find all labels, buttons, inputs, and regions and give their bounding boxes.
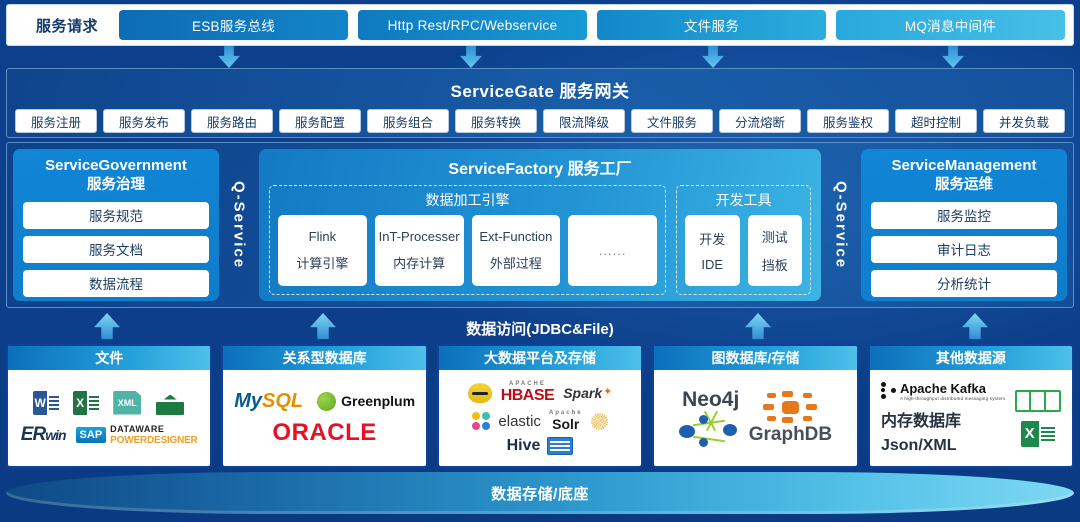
source-card-file-header: 文件 xyxy=(8,346,210,370)
file-import-icon xyxy=(155,391,185,415)
tools-cell-test[interactable]: 测试 挡板 xyxy=(748,215,803,286)
green-table-icon xyxy=(1015,390,1061,412)
mgmt-row-stats[interactable]: 分析统计 xyxy=(871,270,1057,297)
gate-item-concurrency[interactable]: 并发负载 xyxy=(983,109,1065,133)
source-card-other[interactable]: 其他数据源 Apache Kafka A high-throug xyxy=(868,344,1074,468)
solr-logo: Solr xyxy=(552,416,579,432)
excel-icon: X xyxy=(73,391,99,415)
service-government-rows: 服务规范 服务文档 数据流程 xyxy=(23,202,209,297)
service-government-card: ServiceGovernment 服务治理 服务规范 服务文档 数据流程 xyxy=(13,149,219,301)
greenplum-logo: Greenplum xyxy=(341,393,415,409)
hive-logo: Hive xyxy=(507,437,541,455)
engine-cell-more[interactable]: ...... xyxy=(568,215,657,286)
tools-cell-test-top: 测试 xyxy=(762,227,788,246)
gate-item-register[interactable]: 服务注册 xyxy=(15,109,97,133)
source-card-other-header: 其他数据源 xyxy=(870,346,1072,370)
hbase-logo: HBASE xyxy=(501,387,555,405)
kafka-icon xyxy=(881,382,897,400)
xml-icon: XML xyxy=(113,391,141,415)
engine-cell-more-top: ...... xyxy=(599,243,627,258)
service-gate-panel: ServiceGate 服务网关 服务注册 服务发布 服务路由 服务配置 服务组… xyxy=(6,68,1074,138)
engine-cell-int-processer[interactable]: InT-Processer 内存计算 xyxy=(375,215,464,286)
elastic-icon xyxy=(472,412,490,430)
source-card-other-body: Apache Kafka A high-throughput distribut… xyxy=(870,370,1072,466)
q-service-left: Q-Service xyxy=(219,149,259,301)
tools-cell-dev-top: 开发 xyxy=(699,229,725,248)
engine-cell-flink-top: Flink xyxy=(309,229,336,244)
service-management-title-cn: 服务运维 xyxy=(871,176,1057,194)
gov-row-dataflow[interactable]: 数据流程 xyxy=(23,270,209,297)
data-process-engine-title: 数据加工引擎 xyxy=(278,190,657,210)
gate-item-transform[interactable]: 服务转换 xyxy=(455,109,537,133)
gate-item-compose[interactable]: 服务组合 xyxy=(367,109,449,133)
memory-db-label: 内存数据库 xyxy=(881,407,961,431)
source-card-file-body: W X XML ERwin SAP xyxy=(8,370,210,466)
dev-tools-title: 开发工具 xyxy=(685,190,802,210)
engine-cell-ext-function[interactable]: Ext-Function 外部过程 xyxy=(472,215,561,286)
mysql-logo: MySQL xyxy=(234,390,303,413)
engine-cell-flink-bottom: 计算引擎 xyxy=(296,253,348,272)
neo4j-graph-icon xyxy=(679,414,743,448)
data-source-cards: 文件 W X XML xyxy=(6,344,1074,468)
engine-cell-int-top: InT-Processer xyxy=(379,229,460,244)
service-management-title-en: ServiceManagement xyxy=(871,157,1057,176)
graphdb-logo: GraphDB xyxy=(749,424,832,446)
erwin-logo: ERwin xyxy=(21,424,66,446)
gate-item-auth[interactable]: 服务鉴权 xyxy=(807,109,889,133)
service-request-label: 服务请求 xyxy=(15,15,119,36)
word-icon: W xyxy=(33,391,59,415)
service-management-title: ServiceManagement 服务运维 xyxy=(871,157,1057,194)
service-gate-items: 服务注册 服务发布 服务路由 服务配置 服务组合 服务转换 限流降级 文件服务 … xyxy=(7,102,1073,133)
spark-star-icon: ✦ xyxy=(603,385,612,398)
source-card-relational-db[interactable]: 关系型数据库 MySQL Greenplum ORACLE xyxy=(221,344,427,468)
service-government-title-en: ServiceGovernment xyxy=(23,157,209,176)
elastic-logo: elastic xyxy=(498,413,541,430)
arrow-down-icon-4 xyxy=(942,46,964,68)
dev-tools-cells: 开发 IDE 测试 挡板 xyxy=(685,215,802,286)
service-factory-card: ServiceFactory 服务工厂 数据加工引擎 Flink 计算引擎 In… xyxy=(259,149,821,301)
gate-item-fileservice[interactable]: 文件服务 xyxy=(631,109,713,133)
engine-cell-ext-bottom: 外部过程 xyxy=(490,253,542,272)
source-card-relational-db-header: 关系型数据库 xyxy=(223,346,425,370)
data-storage-base-banner: 数据存储/底座 xyxy=(6,472,1074,514)
kafka-logo: Apache Kafka xyxy=(900,381,986,396)
mgmt-row-audit[interactable]: 审计日志 xyxy=(871,236,1057,263)
sap-logo: SAP xyxy=(76,427,107,443)
service-management-rows: 服务监控 审计日志 分析统计 xyxy=(871,202,1057,297)
excel-icon-2: X xyxy=(1021,421,1055,447)
q-service-right: Q-Service xyxy=(821,149,861,301)
source-card-bigdata-header: 大数据平台及存储 xyxy=(439,346,641,370)
service-request-button-file[interactable]: 文件服务 xyxy=(597,10,826,40)
source-card-bigdata[interactable]: 大数据平台及存储 APACHE HBASE Spark ✦ xyxy=(437,344,643,468)
dev-tools-group: 开发工具 开发 IDE 测试 挡板 xyxy=(676,185,811,295)
solr-sun-icon xyxy=(591,413,608,430)
service-gate-title: ServiceGate 服务网关 xyxy=(7,69,1073,102)
neo4j-logo: Neo4j xyxy=(682,388,739,412)
data-access-bar: 数据访问(JDBC&File) xyxy=(0,312,1080,344)
q-service-left-label: Q-Service xyxy=(231,181,248,269)
source-card-bigdata-body: APACHE HBASE Spark ✦ elastic xyxy=(439,370,641,466)
hive-doc-icon xyxy=(547,437,573,455)
engine-cell-int-bottom: 内存计算 xyxy=(393,253,445,272)
source-card-file[interactable]: 文件 W X XML xyxy=(6,344,212,468)
tools-cell-dev-bottom: IDE xyxy=(701,257,723,272)
diagram-root: 服务请求 ESB服务总线 Http Rest/RPC/Webservice 文件… xyxy=(0,0,1080,522)
arrow-down-icon-2 xyxy=(460,46,482,68)
engine-cell-ext-top: Ext-Function xyxy=(479,229,552,244)
mgmt-row-monitor[interactable]: 服务监控 xyxy=(871,202,1057,229)
service-government-title: ServiceGovernment 服务治理 xyxy=(23,157,209,194)
source-card-graphdb-header: 图数据库/存储 xyxy=(654,346,856,370)
spark-logo: Spark xyxy=(563,385,602,401)
gate-item-circuit[interactable]: 分流熔断 xyxy=(719,109,801,133)
source-card-relational-db-body: MySQL Greenplum ORACLE xyxy=(223,370,425,466)
gate-item-throttle[interactable]: 限流降级 xyxy=(543,109,625,133)
engine-cell-flink[interactable]: Flink 计算引擎 xyxy=(278,215,367,286)
service-factory-body: 数据加工引擎 Flink 计算引擎 InT-Processer 内存计算 Ext… xyxy=(269,185,811,295)
oracle-logo: ORACLE xyxy=(272,419,376,447)
service-request-button-mq[interactable]: MQ消息中间件 xyxy=(836,10,1065,40)
gate-item-route[interactable]: 服务路由 xyxy=(191,109,273,133)
middle-layer-panel: ServiceGovernment 服务治理 服务规范 服务文档 数据流程 Q-… xyxy=(6,142,1074,308)
source-card-graphdb[interactable]: 图数据库/存储 Neo4j xyxy=(652,344,858,468)
source-card-graphdb-body: Neo4j xyxy=(654,370,856,466)
service-request-button-http[interactable]: Http Rest/RPC/Webservice xyxy=(358,10,587,40)
powerdesigner-logo: POWERDESIGNER xyxy=(110,435,197,446)
greenplum-icon xyxy=(317,392,336,411)
service-government-title-cn: 服务治理 xyxy=(23,176,209,194)
service-request-bar: 服务请求 ESB服务总线 Http Rest/RPC/Webservice 文件… xyxy=(6,4,1074,46)
gate-item-timeout[interactable]: 超时控制 xyxy=(895,109,977,133)
gate-item-publish[interactable]: 服务发布 xyxy=(103,109,185,133)
arrow-down-icon-3 xyxy=(702,46,724,68)
gate-item-config[interactable]: 服务配置 xyxy=(279,109,361,133)
kafka-tagline: A high-throughput distributed messaging … xyxy=(900,396,1007,401)
service-factory-title: ServiceFactory 服务工厂 xyxy=(269,155,811,179)
hive-bee-icon xyxy=(468,383,492,403)
service-management-card: ServiceManagement 服务运维 服务监控 审计日志 分析统计 xyxy=(861,149,1067,301)
service-request-buttons: ESB服务总线 Http Rest/RPC/Webservice 文件服务 MQ… xyxy=(119,10,1065,40)
data-access-label: 数据访问(JDBC&File) xyxy=(466,318,614,339)
graphdb-nodes-icon xyxy=(762,391,818,423)
gov-row-doc[interactable]: 服务文档 xyxy=(23,236,209,263)
data-process-engine-group: 数据加工引擎 Flink 计算引擎 InT-Processer 内存计算 Ext… xyxy=(269,185,666,295)
data-process-engine-cells: Flink 计算引擎 InT-Processer 内存计算 Ext-Functi… xyxy=(278,215,657,286)
json-xml-label: Json/XML xyxy=(881,437,957,455)
data-storage-base-label: 数据存储/底座 xyxy=(491,483,589,504)
q-service-right-label: Q-Service xyxy=(833,181,850,269)
tools-cell-test-bottom: 挡板 xyxy=(762,255,788,274)
tools-cell-dev[interactable]: 开发 IDE xyxy=(685,215,740,286)
dataware-logo: DATAWARE xyxy=(110,424,164,434)
gov-row-spec[interactable]: 服务规范 xyxy=(23,202,209,229)
arrow-down-icon-1 xyxy=(218,46,240,68)
service-request-button-esb[interactable]: ESB服务总线 xyxy=(119,10,348,40)
